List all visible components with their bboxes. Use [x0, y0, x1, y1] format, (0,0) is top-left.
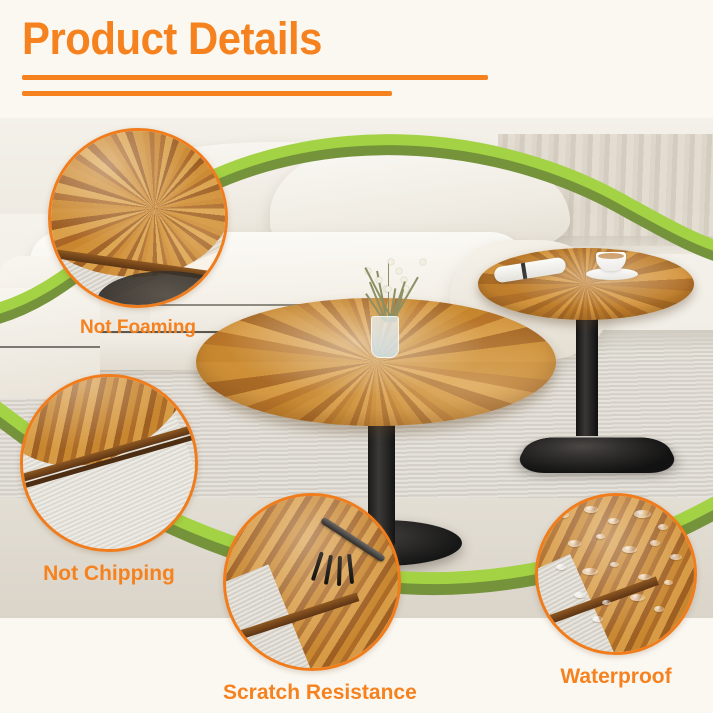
rolled-magazine-icon [493, 256, 567, 283]
coffee-cup-icon [596, 252, 626, 271]
callout-label: Scratch Resistance [223, 681, 401, 705]
waterproof-image [535, 493, 697, 655]
not-foaming-image [48, 128, 228, 308]
callout-label: Not Chipping [20, 562, 198, 586]
not-chipping-image [20, 374, 198, 552]
header: Product Details [22, 12, 488, 96]
callout-not-foaming[interactable]: Not Foaming [48, 128, 228, 339]
side-table-column [576, 306, 598, 436]
saucer [586, 268, 638, 280]
callout-label: Waterproof [535, 665, 697, 689]
callout-waterproof[interactable]: Waterproof [535, 493, 697, 689]
scratch-resistance-image [223, 493, 401, 671]
callout-not-chipping[interactable]: Not Chipping [20, 374, 198, 586]
product-details-banner: Product Details Not Foaming Not Chipping [0, 0, 713, 713]
flower-stems [346, 250, 426, 322]
title-rule-secondary [22, 91, 392, 96]
callout-label: Not Foaming [48, 317, 228, 339]
title-rule-primary [22, 75, 488, 80]
page-title: Product Details [22, 12, 455, 66]
glass-vase-icon [371, 316, 399, 358]
callout-scratch-resistance[interactable]: Scratch Resistance [223, 493, 401, 705]
